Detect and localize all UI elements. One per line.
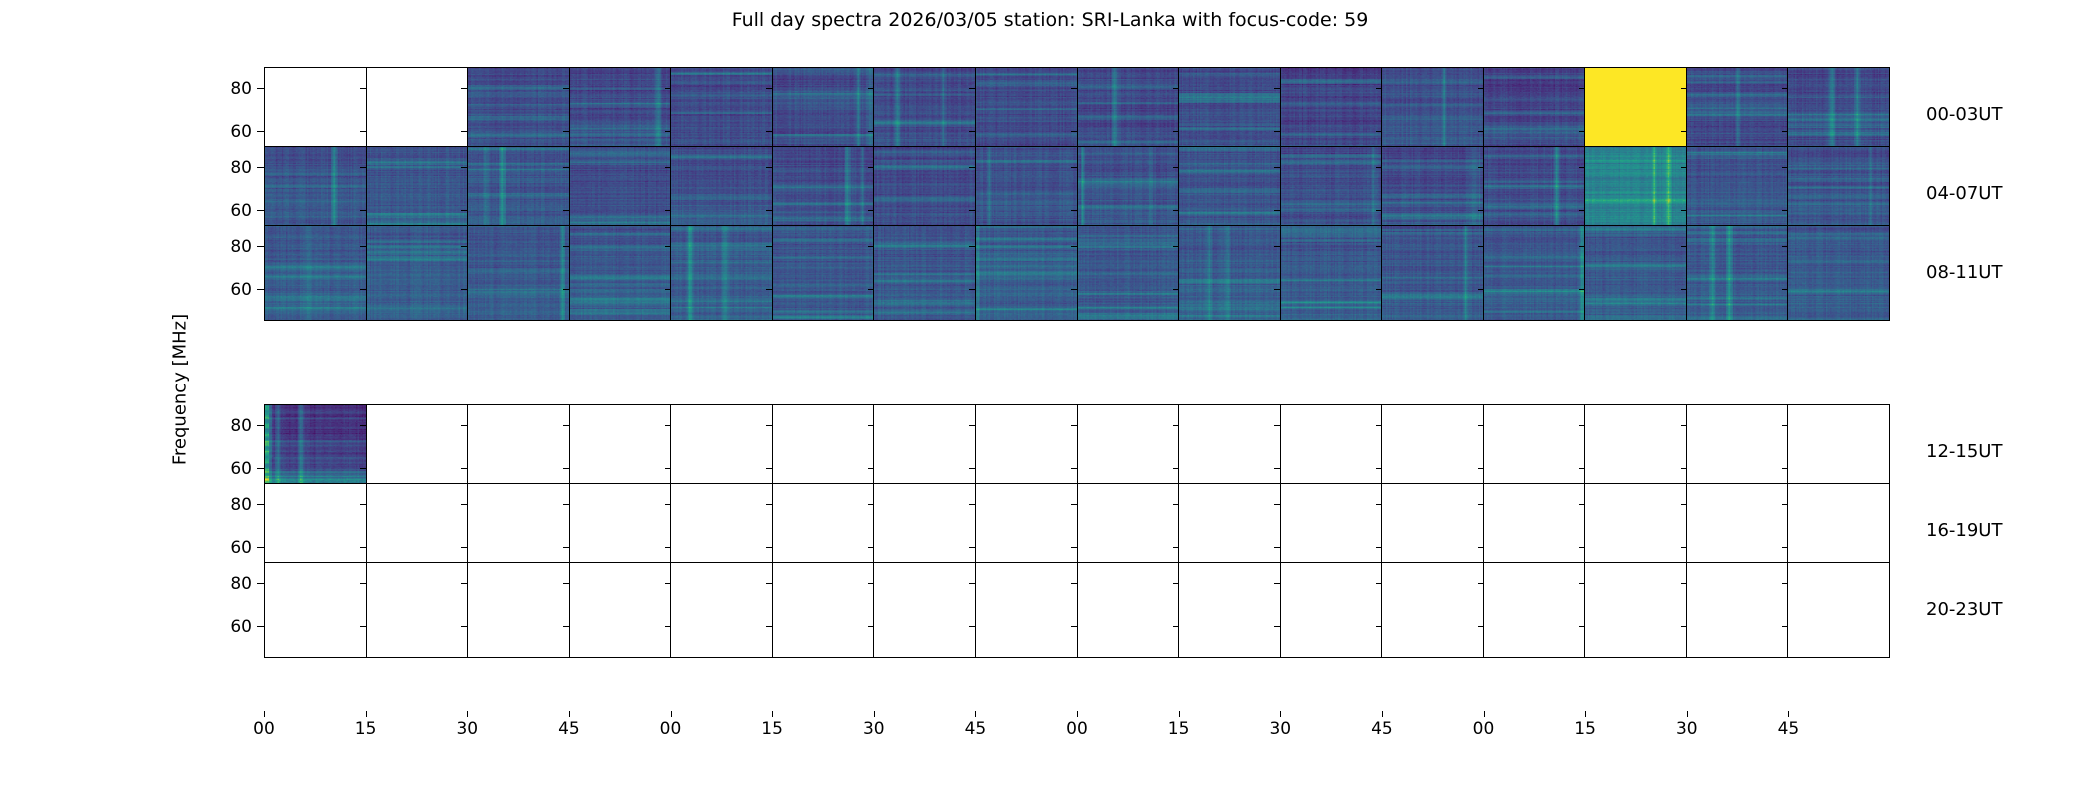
y-tick-mark-inner — [665, 468, 671, 469]
spectrogram-panel[interactable] — [265, 226, 367, 320]
y-tick-mark-inner — [868, 210, 874, 211]
spectrogram-panel[interactable] — [874, 226, 976, 320]
x-tick-mark — [1382, 711, 1383, 717]
y-tick-mark-inner — [1274, 504, 1280, 505]
x-tick-label: 15 — [1565, 719, 1605, 739]
spectrogram-panel[interactable] — [874, 563, 976, 657]
spectrogram-image — [570, 226, 671, 320]
y-tick-mark-inner — [563, 468, 569, 469]
y-tick-mark-inner — [1173, 210, 1179, 211]
y-tick-mark-inner — [360, 626, 366, 627]
x-tick-label: 15 — [1159, 719, 1199, 739]
y-tick-label: 60 — [192, 617, 252, 637]
y-tick-mark-inner — [1782, 425, 1788, 426]
y-tick-mark-inner — [1071, 167, 1077, 168]
y-tick-mark-inner — [360, 167, 366, 168]
spectrogram-row-08-11ut: 8060 — [264, 225, 1890, 321]
y-tick-mark-inner — [665, 246, 671, 247]
y-tick-mark-inner — [1173, 504, 1179, 505]
y-tick-label: 60 — [192, 201, 252, 221]
spectrogram-panel[interactable] — [1179, 226, 1281, 320]
y-tick-mark-inner — [868, 88, 874, 89]
spectrogram-image — [976, 226, 1077, 320]
y-tick-mark-inner — [360, 583, 366, 584]
y-tick-mark: 80 — [257, 583, 264, 584]
y-tick-mark: 80 — [257, 504, 264, 505]
y-tick-mark-inner — [563, 547, 569, 548]
x-tick-label: 15 — [346, 719, 386, 739]
y-tick-mark-inner — [1579, 210, 1585, 211]
x-tick-mark — [1077, 711, 1078, 717]
y-tick-mark-inner — [1478, 547, 1484, 548]
y-tick-mark-inner — [1274, 425, 1280, 426]
y-tick-mark-inner — [1681, 468, 1687, 469]
spectrogram-row-20-23ut: 8060 — [264, 562, 1890, 658]
spectrogram-panel[interactable] — [671, 563, 773, 657]
y-tick-mark-inner — [461, 425, 467, 426]
y-tick-mark: 60 — [257, 547, 264, 548]
y-tick-mark-inner — [1681, 131, 1687, 132]
y-tick-mark: 60 — [257, 626, 264, 627]
y-tick-mark-inner — [1579, 289, 1585, 290]
y-tick-mark-inner — [969, 88, 975, 89]
y-tick-mark: 80 — [257, 425, 264, 426]
y-tick-mark: 80 — [257, 246, 264, 247]
y-tick-mark-inner — [1579, 425, 1585, 426]
y-tick-mark-inner — [360, 210, 366, 211]
y-tick-mark-inner — [1782, 583, 1788, 584]
x-tick-mark — [264, 711, 265, 717]
x-tick-label: 30 — [854, 719, 894, 739]
y-tick-mark-inner — [1681, 210, 1687, 211]
y-tick-mark-inner — [969, 131, 975, 132]
spectrogram-panel[interactable] — [570, 563, 672, 657]
y-tick-mark-inner — [1579, 88, 1585, 89]
y-tick-mark-inner — [1579, 583, 1585, 584]
y-tick-mark-inner — [563, 131, 569, 132]
y-tick-mark-inner — [1681, 626, 1687, 627]
y-tick-mark: 80 — [257, 167, 264, 168]
y-tick-mark-inner — [1274, 468, 1280, 469]
y-tick-mark-inner — [461, 131, 467, 132]
y-tick-mark-inner — [1579, 547, 1585, 548]
y-tick-mark-inner — [1071, 468, 1077, 469]
y-tick-mark-inner — [1681, 246, 1687, 247]
y-tick-mark-inner — [1782, 547, 1788, 548]
spectrogram-image — [874, 226, 975, 320]
y-tick-mark-inner — [563, 425, 569, 426]
x-tick-mark — [1179, 711, 1180, 717]
y-tick-mark-inner — [868, 167, 874, 168]
y-tick-mark-inner — [766, 289, 772, 290]
y-tick-mark-inner — [461, 246, 467, 247]
y-tick-mark-inner — [360, 131, 366, 132]
y-tick-mark-inner — [665, 547, 671, 548]
y-tick-mark-inner — [1681, 547, 1687, 548]
spectrogram-image — [671, 226, 772, 320]
spectrogram-panel[interactable] — [1484, 226, 1586, 320]
x-axis: 00153045001530450015304500153045 — [264, 711, 1890, 745]
y-tick-mark-inner — [1071, 504, 1077, 505]
y-tick-mark-inner — [461, 626, 467, 627]
y-tick-mark-inner — [1579, 167, 1585, 168]
y-tick-mark-inner — [461, 167, 467, 168]
y-tick-mark-inner — [563, 210, 569, 211]
y-tick-mark-inner — [1071, 425, 1077, 426]
x-tick-label: 45 — [1362, 719, 1402, 739]
x-tick-mark — [975, 711, 976, 717]
spectrogram-panel[interactable] — [976, 563, 1078, 657]
y-tick-mark-inner — [1071, 626, 1077, 627]
spectrogram-panel[interactable] — [1281, 226, 1383, 320]
spectrogram-image — [265, 226, 366, 320]
x-tick-mark — [1687, 711, 1688, 717]
y-tick-mark-inner — [1173, 246, 1179, 247]
y-tick-mark-inner — [1782, 468, 1788, 469]
y-tick-mark-inner — [1274, 246, 1280, 247]
y-tick-mark-inner — [1071, 289, 1077, 290]
x-tick-label: 00 — [244, 719, 284, 739]
y-tick-mark-inner — [1071, 210, 1077, 211]
y-tick-mark-inner — [1782, 504, 1788, 505]
y-axis-label-text: Frequency [MHz] — [170, 310, 191, 470]
x-tick-label: 30 — [447, 719, 487, 739]
y-tick-mark-inner — [1782, 289, 1788, 290]
y-tick-mark-inner — [969, 167, 975, 168]
y-tick-mark-inner — [766, 210, 772, 211]
y-tick-mark-inner — [766, 167, 772, 168]
spectrogram-image — [1078, 226, 1179, 320]
y-tick-mark-inner — [1478, 131, 1484, 132]
x-tick-mark — [874, 711, 875, 717]
y-tick-mark-inner — [461, 210, 467, 211]
y-tick-mark-inner — [1274, 583, 1280, 584]
y-tick-mark-inner — [1681, 425, 1687, 426]
y-tick-mark-inner — [766, 547, 772, 548]
y-tick-label: 80 — [192, 495, 252, 515]
y-tick-mark-inner — [360, 504, 366, 505]
y-tick-mark-inner — [766, 626, 772, 627]
x-tick-label: 00 — [1057, 719, 1097, 739]
spectrogram-panel[interactable] — [1585, 226, 1687, 320]
y-tick-label: 80 — [192, 237, 252, 257]
panel-strip — [264, 562, 1890, 658]
y-tick-mark-inner — [969, 210, 975, 211]
y-tick-mark-inner — [1681, 167, 1687, 168]
y-tick-mark-inner — [868, 289, 874, 290]
y-tick-label: 60 — [192, 280, 252, 300]
spectrogram-panel[interactable] — [367, 226, 469, 320]
y-tick-mark-inner — [1071, 246, 1077, 247]
y-tick-mark-inner — [665, 167, 671, 168]
y-tick-mark-inner — [766, 131, 772, 132]
y-tick-mark-inner — [665, 289, 671, 290]
y-tick-mark-inner — [1579, 468, 1585, 469]
y-tick-mark-inner — [1376, 583, 1382, 584]
x-tick-mark — [671, 711, 672, 717]
spectrogram-panel[interactable] — [671, 226, 773, 320]
spectrogram-image — [1788, 226, 1889, 320]
y-tick-mark-inner — [1782, 88, 1788, 89]
y-tick-label: 80 — [192, 574, 252, 594]
y-tick-mark-inner — [1173, 547, 1179, 548]
y-tick-mark-inner — [563, 626, 569, 627]
y-tick-mark-inner — [1071, 88, 1077, 89]
y-tick-mark-inner — [766, 504, 772, 505]
y-tick-mark-inner — [1681, 504, 1687, 505]
y-tick-mark-inner — [665, 583, 671, 584]
y-tick-mark-inner — [1376, 210, 1382, 211]
y-tick-mark-inner — [1376, 289, 1382, 290]
y-tick-mark-inner — [563, 246, 569, 247]
y-tick-mark-inner — [868, 131, 874, 132]
y-tick-mark: 80 — [257, 88, 264, 89]
y-tick-mark-inner — [1782, 626, 1788, 627]
y-tick-mark-inner — [1681, 583, 1687, 584]
spectrogram-image — [1585, 226, 1686, 320]
y-tick-mark-inner — [1173, 131, 1179, 132]
y-tick-mark-inner — [461, 583, 467, 584]
spectrogram-panel[interactable] — [1078, 563, 1180, 657]
row-label-08-11ut: 08-11UT — [1926, 262, 2002, 284]
spectrogram-image — [1687, 226, 1788, 320]
y-tick-mark: 60 — [257, 210, 264, 211]
y-tick-mark-inner — [461, 88, 467, 89]
y-tick-mark-inner — [1478, 167, 1484, 168]
y-tick-mark-inner — [969, 547, 975, 548]
y-tick-mark-inner — [1173, 167, 1179, 168]
y-tick-mark-inner — [969, 289, 975, 290]
spectrogram-panel[interactable] — [1788, 563, 1889, 657]
row-label-04-07ut: 04-07UT — [1926, 183, 2002, 205]
y-axis-label: Frequency [MHz] — [168, 280, 192, 500]
y-tick-mark-inner — [360, 289, 366, 290]
y-tick-mark-inner — [1274, 131, 1280, 132]
page-title: Full day spectra 2026/03/05 station: SRI… — [0, 8, 2100, 32]
figure-canvas: Full day spectra 2026/03/05 station: SRI… — [0, 0, 2100, 800]
y-tick-mark-inner — [969, 468, 975, 469]
spectrogram-panel[interactable] — [1078, 226, 1180, 320]
y-tick-mark-inner — [1376, 504, 1382, 505]
spectrogram-panel[interactable] — [1382, 563, 1484, 657]
y-tick-mark: 60 — [257, 131, 264, 132]
y-tick-mark-inner — [766, 583, 772, 584]
spectrogram-image — [1382, 226, 1483, 320]
y-tick-mark-inner — [1071, 131, 1077, 132]
spectrogram-panel[interactable] — [468, 226, 570, 320]
x-tick-label: 30 — [1667, 719, 1707, 739]
spectrogram-panel[interactable] — [976, 226, 1078, 320]
y-tick-label: 60 — [192, 122, 252, 142]
y-tick-mark-inner — [766, 425, 772, 426]
y-tick-mark-inner — [461, 468, 467, 469]
y-tick-mark-inner — [1376, 468, 1382, 469]
y-tick-mark-inner — [1376, 547, 1382, 548]
y-tick-mark-inner — [1376, 626, 1382, 627]
y-tick-mark-inner — [1173, 289, 1179, 290]
y-tick-mark-inner — [766, 88, 772, 89]
row-label-00-03ut: 00-03UT — [1926, 104, 2002, 126]
x-tick-mark — [772, 711, 773, 717]
y-tick-mark-inner — [1376, 131, 1382, 132]
y-tick-mark-inner — [1579, 504, 1585, 505]
y-tick-mark-inner — [665, 210, 671, 211]
spectrogram-panel[interactable] — [468, 563, 570, 657]
y-tick-mark-inner — [1478, 583, 1484, 584]
x-tick-label: 45 — [549, 719, 589, 739]
y-tick-mark-inner — [868, 246, 874, 247]
y-tick-label: 60 — [192, 459, 252, 479]
y-tick-mark-inner — [1274, 167, 1280, 168]
x-tick-mark — [569, 711, 570, 717]
y-tick-mark-inner — [868, 468, 874, 469]
y-tick-mark-inner — [1376, 88, 1382, 89]
spectrogram-panel[interactable] — [1687, 226, 1789, 320]
y-tick-mark-inner — [1173, 626, 1179, 627]
y-tick-mark: 60 — [257, 468, 264, 469]
spectrogram-panel[interactable] — [1281, 563, 1383, 657]
panel-strip — [264, 225, 1890, 321]
y-tick-mark-inner — [868, 583, 874, 584]
y-tick-mark-inner — [1579, 246, 1585, 247]
y-tick-mark-inner — [1478, 626, 1484, 627]
y-tick-mark-inner — [665, 425, 671, 426]
x-tick-label: 45 — [1768, 719, 1808, 739]
y-tick-mark-inner — [461, 289, 467, 290]
y-tick-mark-inner — [1274, 88, 1280, 89]
spectrogram-panel[interactable] — [773, 563, 875, 657]
y-tick-mark-inner — [1274, 626, 1280, 627]
y-tick-mark-inner — [1376, 167, 1382, 168]
y-tick-mark-inner — [969, 246, 975, 247]
y-tick-mark-inner — [461, 504, 467, 505]
y-tick-mark-inner — [563, 167, 569, 168]
y-tick-mark-inner — [1681, 88, 1687, 89]
y-tick-mark-inner — [1274, 289, 1280, 290]
spectrogram-panel[interactable] — [773, 226, 875, 320]
y-tick-mark-inner — [1071, 583, 1077, 584]
spectrogram-image — [367, 226, 468, 320]
y-tick-mark-inner — [1173, 425, 1179, 426]
x-tick-mark — [1585, 711, 1586, 717]
y-tick-mark-inner — [1274, 547, 1280, 548]
y-tick-mark-inner — [1478, 425, 1484, 426]
x-tick-label: 00 — [1464, 719, 1504, 739]
y-tick-mark-inner — [1478, 504, 1484, 505]
spectrogram-panel[interactable] — [570, 226, 672, 320]
x-tick-mark — [1484, 711, 1485, 717]
y-tick-mark-inner — [665, 88, 671, 89]
x-tick-mark — [1788, 711, 1789, 717]
y-tick-mark-inner — [868, 547, 874, 548]
y-tick-label: 80 — [192, 79, 252, 99]
y-tick-label: 60 — [192, 538, 252, 558]
y-tick-mark-inner — [1782, 167, 1788, 168]
y-tick-mark-inner — [563, 289, 569, 290]
spectrogram-panel[interactable] — [1585, 563, 1687, 657]
y-tick-mark-inner — [1478, 88, 1484, 89]
y-tick-mark-inner — [1274, 210, 1280, 211]
spectrogram-panel[interactable] — [265, 563, 367, 657]
y-tick-mark-inner — [1579, 626, 1585, 627]
row-label-12-15ut: 12-15UT — [1926, 441, 2002, 463]
y-tick-mark-inner — [1681, 289, 1687, 290]
y-tick-mark-inner — [665, 504, 671, 505]
y-tick-mark-inner — [1376, 246, 1382, 247]
y-tick-mark-inner — [969, 425, 975, 426]
x-tick-mark — [366, 711, 367, 717]
y-tick-mark-inner — [868, 504, 874, 505]
spectrogram-image — [1179, 226, 1280, 320]
x-tick-label: 00 — [651, 719, 691, 739]
x-tick-mark — [1280, 711, 1281, 717]
y-tick-mark-inner — [1173, 88, 1179, 89]
y-tick-label: 80 — [192, 158, 252, 178]
spectrogram-panel[interactable] — [367, 563, 469, 657]
x-tick-label: 15 — [752, 719, 792, 739]
y-tick-mark-inner — [360, 425, 366, 426]
y-tick-mark-inner — [665, 626, 671, 627]
y-tick-mark-inner — [1478, 246, 1484, 247]
y-tick-mark-inner — [868, 425, 874, 426]
y-tick-mark-inner — [868, 626, 874, 627]
y-tick-mark-inner — [360, 468, 366, 469]
y-tick-mark-inner — [969, 504, 975, 505]
y-tick-mark-inner — [766, 246, 772, 247]
y-tick-mark-inner — [563, 583, 569, 584]
y-tick-mark-inner — [360, 88, 366, 89]
spectrogram-image — [1484, 226, 1585, 320]
y-tick-mark-inner — [563, 504, 569, 505]
y-tick-mark-inner — [1579, 131, 1585, 132]
y-tick-mark-inner — [563, 88, 569, 89]
y-tick-mark-inner — [766, 468, 772, 469]
spectrogram-panel[interactable] — [1484, 563, 1586, 657]
y-tick-label: 80 — [192, 416, 252, 436]
x-tick-mark — [467, 711, 468, 717]
x-tick-label: 45 — [955, 719, 995, 739]
row-label-16-19ut: 16-19UT — [1926, 520, 2002, 542]
row-label-20-23ut: 20-23UT — [1926, 599, 2002, 621]
y-tick-mark-inner — [1478, 210, 1484, 211]
y-tick-mark-inner — [1782, 246, 1788, 247]
y-tick-mark-inner — [665, 131, 671, 132]
y-tick-mark-inner — [1376, 425, 1382, 426]
y-tick-mark-inner — [360, 246, 366, 247]
spectrogram-image — [1281, 226, 1382, 320]
y-tick-mark-inner — [1173, 468, 1179, 469]
y-tick-mark-inner — [1173, 583, 1179, 584]
x-tick-label: 30 — [1260, 719, 1300, 739]
y-tick-mark: 60 — [257, 289, 264, 290]
y-tick-mark-inner — [969, 583, 975, 584]
y-tick-mark-inner — [1071, 547, 1077, 548]
y-tick-mark-inner — [1782, 131, 1788, 132]
y-tick-mark-inner — [360, 547, 366, 548]
spectrogram-panel[interactable] — [1788, 226, 1889, 320]
spectrogram-image — [468, 226, 569, 320]
spectrogram-panel[interactable] — [1382, 226, 1484, 320]
y-tick-mark-inner — [1478, 289, 1484, 290]
spectrogram-panel[interactable] — [1687, 563, 1789, 657]
y-tick-mark-inner — [1782, 210, 1788, 211]
y-tick-mark-inner — [1478, 468, 1484, 469]
spectrogram-panel[interactable] — [1179, 563, 1281, 657]
spectrogram-image — [773, 226, 874, 320]
y-tick-mark-inner — [461, 547, 467, 548]
y-tick-mark-inner — [969, 626, 975, 627]
